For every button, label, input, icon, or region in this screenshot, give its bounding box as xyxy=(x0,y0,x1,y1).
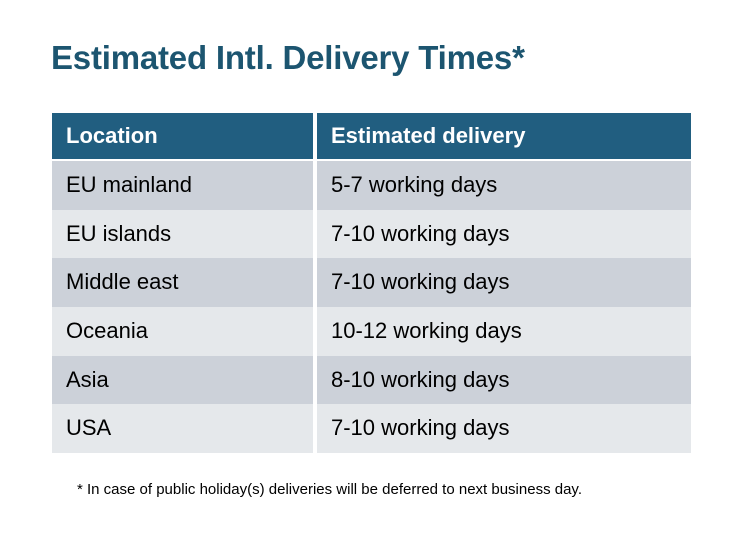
table-cell-location: EU mainland xyxy=(52,161,313,210)
delivery-times-page: Estimated Intl. Delivery Times* Location… xyxy=(0,0,745,536)
table-body: EU mainland 5-7 working days EU islands … xyxy=(52,161,691,453)
table-cell-delivery: 5-7 working days xyxy=(317,161,691,210)
table-row: EU islands 7-10 working days xyxy=(52,210,691,259)
table-cell-location: USA xyxy=(52,404,313,453)
page-title: Estimated Intl. Delivery Times* xyxy=(51,38,711,78)
footnote-text: * In case of public holiday(s) deliverie… xyxy=(77,480,717,500)
delivery-times-table: Location Estimated delivery EU mainland … xyxy=(52,113,691,453)
table-cell-location: EU islands xyxy=(52,210,313,259)
table-row: USA 7-10 working days xyxy=(52,404,691,453)
table-header-row: Location Estimated delivery xyxy=(52,113,691,159)
table-cell-delivery: 7-10 working days xyxy=(317,404,691,453)
table-header-location: Location xyxy=(52,113,313,159)
table-row: Middle east 7-10 working days xyxy=(52,258,691,307)
table-row: EU mainland 5-7 working days xyxy=(52,161,691,210)
table-header-estimated-delivery: Estimated delivery xyxy=(317,113,691,159)
table-cell-delivery: 7-10 working days xyxy=(317,258,691,307)
table-cell-location: Oceania xyxy=(52,307,313,356)
table-cell-delivery: 7-10 working days xyxy=(317,210,691,259)
table-cell-delivery: 8-10 working days xyxy=(317,356,691,405)
table-cell-location: Middle east xyxy=(52,258,313,307)
table-cell-location: Asia xyxy=(52,356,313,405)
table-row: Oceania 10-12 working days xyxy=(52,307,691,356)
table-cell-delivery: 10-12 working days xyxy=(317,307,691,356)
table-row: Asia 8-10 working days xyxy=(52,356,691,405)
